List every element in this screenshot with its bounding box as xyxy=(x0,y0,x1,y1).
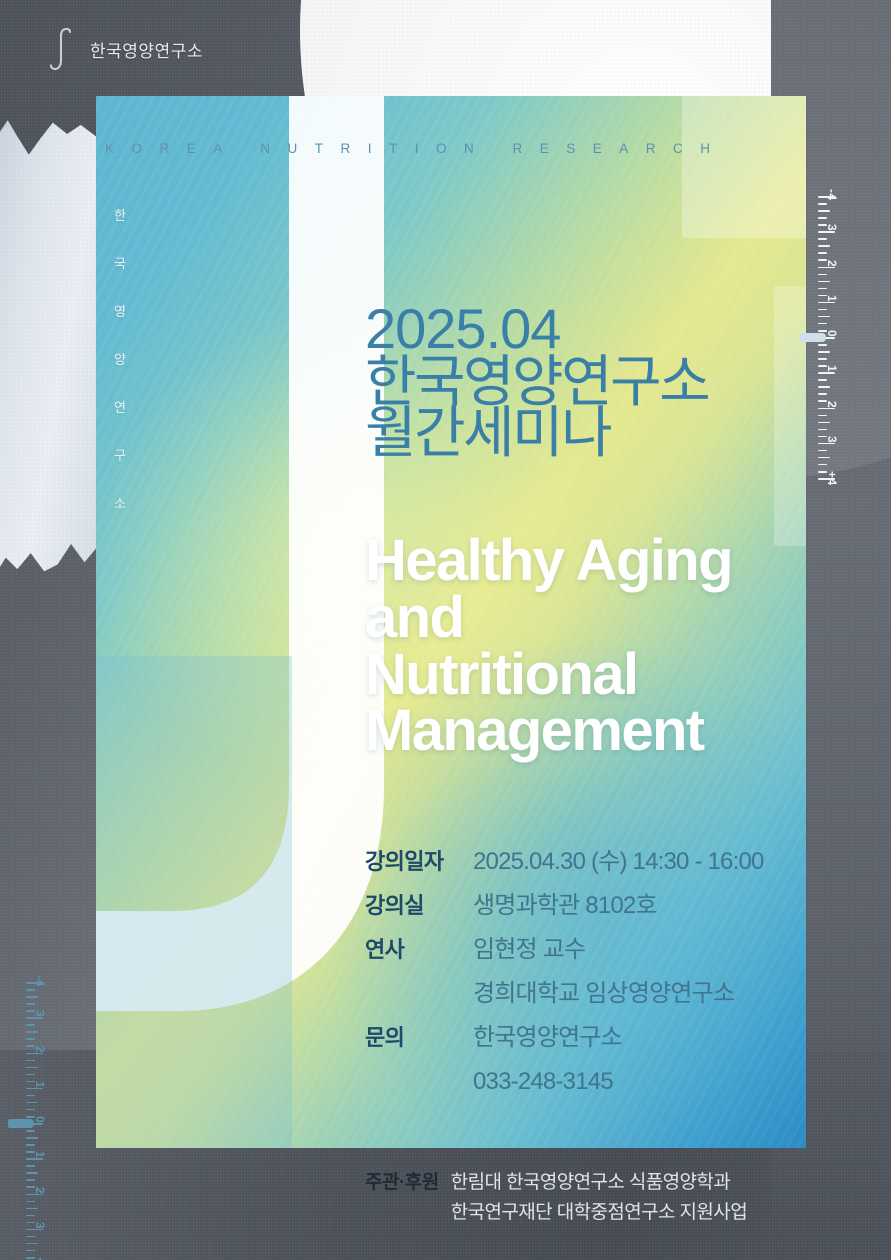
detail-label-contact: 문의 xyxy=(365,1016,473,1060)
ruler-minor-tick xyxy=(818,358,827,360)
detail-list: 강의일자 2025.04.30 (수) 14:30 - 16:00 강의실 생명… xyxy=(365,840,764,1104)
ruler-left: -43210123+4 xyxy=(26,982,86,1260)
detail-label-room: 강의실 xyxy=(365,884,473,928)
ruler-label: 1 xyxy=(825,295,839,302)
ruler-label: 2 xyxy=(825,401,839,408)
ruler-minor-tick xyxy=(818,379,827,381)
detail-value-phone: 033-248-3145 xyxy=(473,1060,764,1104)
headline-line-2: and xyxy=(365,590,732,647)
ruler-label: 2 xyxy=(33,1046,47,1053)
ruler-minor-tick xyxy=(818,393,827,395)
ruler-minor-tick xyxy=(26,1137,38,1139)
ruler-zero-marker xyxy=(8,1119,34,1128)
ruler-label: -4 xyxy=(33,975,47,987)
title-date: 2025.04 xyxy=(365,300,708,357)
detail-value-contact-org: 한국영양연구소 xyxy=(473,1016,764,1060)
ruler-minor-tick xyxy=(818,344,827,346)
ruler-minor-tick xyxy=(26,1038,35,1040)
ruler-minor-tick xyxy=(818,429,827,431)
ruler-minor-tick xyxy=(26,996,38,998)
integral-j-mark-icon xyxy=(48,28,76,70)
vertical-char: 양 xyxy=(114,349,126,368)
headline-line-4: Management xyxy=(365,703,732,760)
vertical-char: 연 xyxy=(114,397,126,416)
ruler-minor-tick xyxy=(818,252,827,254)
ruler-minor-tick xyxy=(818,351,830,353)
detail-value-affiliation: 경희대학교 임상영양연구소 xyxy=(473,972,764,1016)
ruler-right-ticks: -43210123+4 xyxy=(818,196,848,478)
logo-text: 한국영양연구소 xyxy=(90,37,203,62)
footer-sponsors: 주관·후원 한림대 한국영양연구소 식품영양학과 한국연구재단 대학중점연구소 … xyxy=(365,1168,747,1228)
ruler-major-tick xyxy=(818,231,835,233)
ruler-minor-tick xyxy=(818,323,827,325)
ruler-minor-tick xyxy=(26,1236,35,1238)
ruler-minor-tick xyxy=(818,464,827,466)
ruler-minor-tick xyxy=(26,1003,35,1005)
footer-line-1: 한림대 한국영양연구소 식품영양학과 xyxy=(451,1168,747,1198)
vertical-institute-name: 한 국 영 양 연 구 소 xyxy=(114,205,126,512)
ruler-minor-tick xyxy=(818,288,827,290)
detail-label-spacer xyxy=(365,972,473,1016)
detail-value-room: 생명과학관 8102호 xyxy=(473,884,764,928)
ruler-label: 0 xyxy=(33,1116,47,1123)
ruler-major-tick xyxy=(26,1158,43,1160)
vertical-char: 소 xyxy=(114,493,126,512)
poster-canvas: 한국영양연구소 KOREA NUTRITION RESEARCH 한 국 영 양… xyxy=(0,0,891,1260)
ruler-major-tick xyxy=(26,1017,43,1019)
ruler-minor-tick xyxy=(26,1215,35,1217)
detail-label-spacer-2 xyxy=(365,1060,473,1104)
detail-value-date: 2025.04.30 (수) 14:30 - 16:00 xyxy=(473,840,764,884)
ruler-minor-tick xyxy=(818,415,827,417)
ruler-minor-tick xyxy=(818,457,830,459)
ruler-left-ticks: -43210123+4 xyxy=(26,982,56,1260)
overlay-rect-mid-right xyxy=(774,286,806,546)
footer-line-2: 한국연구재단 대학중점연구소 지원사업 xyxy=(451,1198,747,1228)
overlay-rect-top-right xyxy=(682,96,806,238)
vertical-char: 영 xyxy=(114,301,126,320)
ruler-minor-tick xyxy=(818,316,830,318)
ruler-minor-tick xyxy=(26,1179,35,1181)
ruler-label: -4 xyxy=(825,189,839,201)
ruler-label: +4 xyxy=(825,471,839,486)
detail-label-date: 강의일자 xyxy=(365,840,473,884)
ruler-label: 0 xyxy=(825,330,839,337)
ruler-label: 3 xyxy=(33,1010,47,1017)
detail-value-speaker: 임현정 교수 xyxy=(473,928,764,972)
ruler-minor-tick xyxy=(26,1074,35,1076)
ruler-minor-tick xyxy=(26,1060,35,1062)
ruler-minor-tick xyxy=(26,1250,35,1252)
logo[interactable]: 한국영양연구소 xyxy=(48,28,203,70)
ruler-minor-tick xyxy=(818,386,830,388)
ruler-label: 3 xyxy=(33,1222,47,1229)
ruler-label: 3 xyxy=(825,224,839,231)
ruler-label: 2 xyxy=(33,1187,47,1194)
ruler-minor-tick xyxy=(26,1165,35,1167)
ruler-minor-tick xyxy=(818,238,827,240)
ruler-minor-tick xyxy=(26,1067,38,1069)
vertical-char: 국 xyxy=(114,253,126,272)
ruler-minor-tick xyxy=(26,1095,35,1097)
ruler-minor-tick xyxy=(818,210,830,212)
ruler-right: -43210123+4 xyxy=(818,196,878,478)
ruler-label: 2 xyxy=(825,260,839,267)
vertical-char: 한 xyxy=(114,205,126,224)
ruler-minor-tick xyxy=(818,217,827,219)
ruler-minor-tick xyxy=(818,422,830,424)
ruler-minor-tick xyxy=(26,1243,38,1245)
footer-lines: 한림대 한국영양연구소 식품영양학과 한국연구재단 대학중점연구소 지원사업 xyxy=(451,1168,747,1228)
ruler-minor-tick xyxy=(818,281,830,283)
overlay-rect-bottom-left xyxy=(96,656,292,1148)
ruler-minor-tick xyxy=(26,989,35,991)
ruler-minor-tick xyxy=(818,203,827,205)
ruler-zero-marker xyxy=(800,333,826,342)
ruler-minor-tick xyxy=(26,1109,35,1111)
ruler-minor-tick xyxy=(26,1130,35,1132)
ruler-minor-tick xyxy=(26,1208,38,1210)
ruler-label: 3 xyxy=(825,436,839,443)
ruler-minor-tick xyxy=(818,450,827,452)
ruler-minor-tick xyxy=(26,1024,35,1026)
seminar-title: 2025.04 한국영양연구소 월간세미나 xyxy=(365,300,708,461)
ruler-minor-tick xyxy=(818,245,830,247)
headline-line-1: Healthy Aging xyxy=(365,533,732,590)
ruler-minor-tick xyxy=(26,1031,38,1033)
headline-line-3: Nutritional xyxy=(365,647,732,704)
detail-label-speaker: 연사 xyxy=(365,928,473,972)
headline: Healthy Aging and Nutritional Management xyxy=(365,533,732,760)
footer-label: 주관·후원 xyxy=(365,1168,439,1198)
ruler-label: 1 xyxy=(33,1151,47,1158)
ruler-minor-tick xyxy=(26,1172,38,1174)
ruler-label: 1 xyxy=(825,365,839,372)
ruler-label: 1 xyxy=(33,1081,47,1088)
vertical-char: 구 xyxy=(114,445,126,464)
ruler-major-tick xyxy=(818,372,835,374)
ruler-minor-tick xyxy=(26,1102,38,1104)
ruler-minor-tick xyxy=(818,309,827,311)
ruler-minor-tick xyxy=(818,274,827,276)
ruler-minor-tick xyxy=(26,1201,35,1203)
ruler-minor-tick xyxy=(26,1144,35,1146)
eyebrow-text: KOREA NUTRITION RESEARCH xyxy=(105,141,728,156)
